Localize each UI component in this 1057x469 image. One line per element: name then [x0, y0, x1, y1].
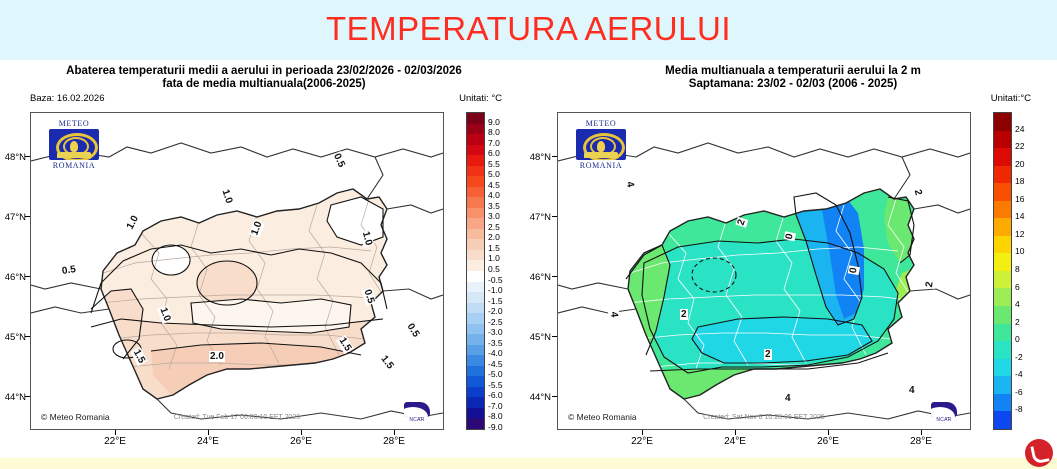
colorbar-segment: [467, 218, 484, 229]
colorbar-segment: [467, 145, 484, 156]
colorbar-tick-label: -4.0: [488, 349, 503, 358]
colorbar-segment: [467, 345, 484, 356]
colorbar-tick-label: 5.0: [488, 170, 500, 179]
colorbar-segment: [994, 253, 1011, 271]
colorbar-segment: [467, 176, 484, 187]
meteo-romania-logo-left: METEO ROMANIA: [43, 119, 105, 170]
right-xtick-mark-26: [828, 430, 829, 435]
colorbar-segment: [467, 313, 484, 324]
ncar-logo-left: NCAR: [399, 402, 435, 423]
colorbar-tick-label: 9.0: [488, 118, 500, 127]
colorbar-tick-label: 22: [1015, 142, 1024, 151]
left-ytick-44: 44°N: [0, 392, 26, 403]
colorbar-tick-label: 12: [1015, 230, 1024, 239]
colorbar-segment: [994, 201, 1011, 219]
colorbar-segment: [467, 303, 484, 314]
colorbar-tick-label: 4.0: [488, 191, 500, 200]
left-units-label: Unitati: °C: [459, 93, 502, 104]
ncar-swoosh-icon-right: [931, 402, 957, 417]
colorbar-tick-label: -4.5: [488, 360, 503, 369]
colorbar-segment: [994, 113, 1011, 131]
colorbar-tick-label: -3.0: [488, 328, 503, 337]
right-xtick-26: 26°E: [808, 436, 848, 447]
right-title-line2: Saptamana: 23/02 - 02/03 (2006 - 2025): [529, 78, 1057, 91]
left-xtick-mark-28: [394, 430, 395, 435]
colorbar-tick-label: 10: [1015, 247, 1024, 256]
colorbar-tick-label: 2.0: [488, 233, 500, 242]
logo-top-text-right: METEO: [570, 119, 632, 128]
colorbar-tick-label: -1.0: [488, 286, 503, 295]
colorbar-tick-label: 6: [1015, 283, 1020, 292]
colorbar-tick-label: 6.0: [488, 149, 500, 158]
colorbar-segment: [467, 197, 484, 208]
colorbar-segment: [467, 387, 484, 398]
colorbar-tick-label: -3.5: [488, 339, 503, 348]
colorbar-segment: [467, 418, 484, 429]
meteo-romania-logo-right: METEO ROMANIA: [570, 119, 632, 170]
ncar-logo-right: NCAR: [926, 402, 962, 423]
colorbar-segment: [994, 236, 1011, 254]
colorbar-tick-label: -5.0: [488, 370, 503, 379]
colorbar-tick-label: 8.0: [488, 128, 500, 137]
colorbar-segment: [467, 166, 484, 177]
colorbar-segment: [994, 288, 1011, 306]
colorbar-tick-label: -5.5: [488, 381, 503, 390]
right-contour-label-10: 4: [784, 393, 792, 404]
colorbar-segment: [994, 394, 1011, 412]
colorbar-tick-label: 2.5: [488, 223, 500, 232]
left-xtick-mark-24: [208, 430, 209, 435]
adobe-pdf-icon[interactable]: [1025, 439, 1053, 467]
colorbar-tick-label: -2.5: [488, 318, 503, 327]
colorbar-tick-label: 1.5: [488, 244, 500, 253]
left-panel: Abaterea temperaturii medii a aerului in…: [0, 60, 528, 469]
left-ytick-45: 45°N: [0, 332, 26, 343]
right-map-frame: 4 2 0 2 0 2 4 2 2 4 4 METEO ROMANIA © Me…: [557, 112, 971, 430]
left-map[interactable]: 0.5 1.0 1.0 1.0 1.0 1.0 0.5 0.5 1.5 1.5 …: [30, 112, 444, 430]
right-contour-label-8: 2: [680, 309, 688, 320]
colorbar-segment: [467, 408, 484, 419]
left-xtick-28: 28°E: [374, 436, 414, 447]
colorbar-segment: [467, 124, 484, 135]
colorbar-segment: [994, 183, 1011, 201]
colorbar-tick-label: -0.5: [488, 276, 503, 285]
ncar-swoosh-icon-left: [404, 402, 430, 417]
right-xtick-mark-28: [921, 430, 922, 435]
left-colorbar: [466, 112, 485, 430]
colorbar-segment: [467, 260, 484, 271]
left-panel-title: Abaterea temperaturii medii a aerului in…: [0, 60, 528, 91]
right-xtick-mark-24: [735, 430, 736, 435]
colorbar-segment: [994, 166, 1011, 184]
right-ytick-46: 46°N: [517, 272, 551, 283]
left-xtick-mark-22: [115, 430, 116, 435]
left-contour-label-11: 2.0: [209, 351, 225, 362]
right-xtick-22: 22°E: [622, 436, 662, 447]
left-xtick-24: 24°E: [188, 436, 228, 447]
right-xtick-24: 24°E: [715, 436, 755, 447]
right-panel-meta: Unitati:°C: [529, 93, 1057, 107]
colorbar-segment: [467, 208, 484, 219]
left-copyright: © Meteo Romania: [41, 412, 110, 422]
colorbar-segment: [994, 271, 1011, 289]
colorbar-segment: [467, 292, 484, 303]
colorbar-tick-label: 5.5: [488, 160, 500, 169]
colorbar-tick-label: 4: [1015, 300, 1020, 309]
colorbar-segment: [467, 187, 484, 198]
right-contour-label-9: 2: [764, 349, 772, 360]
colorbar-segment: [994, 376, 1011, 394]
colorbar-tick-label: 20: [1015, 160, 1024, 169]
colorbar-tick-label: 1.0: [488, 254, 500, 263]
colorbar-tick-label: 18: [1015, 177, 1024, 186]
colorbar-tick-label: 16: [1015, 195, 1024, 204]
colorbar-segment: [467, 334, 484, 345]
colorbar-segment: [467, 282, 484, 293]
colorbar-tick-label: -8.0: [488, 412, 503, 421]
colorbar-segment: [994, 359, 1011, 377]
colorbar-segment: [994, 131, 1011, 149]
logo-bottom-text-right: ROMANIA: [570, 161, 632, 170]
colorbar-tick-label: -8: [1015, 405, 1023, 414]
colorbar-tick-label: 24: [1015, 125, 1024, 134]
ncar-label-right: NCAR: [926, 417, 962, 423]
colorbar-segment: [467, 155, 484, 166]
logo-emblem-right: [576, 129, 626, 160]
right-panel-title: Media multianuala a temperaturii aerului…: [529, 60, 1057, 91]
left-xtick-mark-26: [301, 430, 302, 435]
right-xtick-mark-22: [642, 430, 643, 435]
left-ytick-47: 47°N: [0, 212, 26, 223]
colorbar-tick-label: -2.0: [488, 307, 503, 316]
colorbar-segment: [994, 148, 1011, 166]
right-units-label: Unitati:°C: [991, 93, 1031, 104]
colorbar-segment: [994, 306, 1011, 324]
colorbar-segment: [467, 376, 484, 387]
right-ytick-44: 44°N: [517, 392, 551, 403]
right-ytick-48: 48°N: [517, 152, 551, 163]
left-contour-label-7: 0.5: [60, 264, 77, 277]
colorbar-tick-label: 0.5: [488, 265, 500, 274]
colorbar-segment: [467, 366, 484, 377]
logo-top-text-left: METEO: [43, 119, 105, 128]
left-ytick-46: 46°N: [0, 272, 26, 283]
colorbar-segment: [467, 239, 484, 250]
logo-bottom-text-left: ROMANIA: [43, 161, 105, 170]
colorbar-segment: [994, 218, 1011, 236]
colorbar-segment: [467, 397, 484, 408]
left-created-timestamp: Created: Tue Feb 17 06:00:10 EET 2026: [174, 414, 300, 421]
colorbar-tick-label: 8: [1015, 265, 1020, 274]
colorbar-tick-label: -7.0: [488, 402, 503, 411]
colorbar-segment: [994, 341, 1011, 359]
colorbar-segment: [467, 113, 484, 124]
page-title: TEMPERATURA AERULUI: [0, 10, 1057, 48]
right-colorbar: [993, 112, 1012, 430]
colorbar-tick-label: 3.5: [488, 202, 500, 211]
colorbar-tick-label: -4: [1015, 370, 1023, 379]
left-panel-meta: Baza: 16.02.2026 Unitati: °C: [0, 93, 528, 107]
right-created-timestamp: Created: Sat Nov 8 10:28:06 EET 2025: [703, 414, 825, 421]
colorbar-tick-label: -1.5: [488, 297, 503, 306]
right-xtick-28: 28°E: [901, 436, 941, 447]
colorbar-tick-label: 3.0: [488, 212, 500, 221]
right-contour-label-11: 4: [908, 385, 916, 396]
logo-emblem-left: [49, 129, 99, 160]
colorbar-segment: [467, 229, 484, 240]
right-ytick-47: 47°N: [517, 212, 551, 223]
colorbar-segment: [467, 271, 484, 282]
colorbar-tick-label: 14: [1015, 212, 1024, 221]
colorbar-segment: [994, 411, 1011, 429]
colorbar-tick-label: 0: [1015, 335, 1020, 344]
right-copyright: © Meteo Romania: [568, 412, 637, 422]
colorbar-tick-label: 7.0: [488, 139, 500, 148]
right-panel: Media multianuala a temperaturii aerului…: [529, 60, 1057, 469]
right-title-line1: Media multianuala a temperaturii aerului…: [665, 65, 921, 77]
left-map-frame: 0.5 1.0 1.0 1.0 1.0 1.0 0.5 0.5 1.5 1.5 …: [30, 112, 444, 430]
colorbar-tick-label: 2: [1015, 318, 1020, 327]
ncar-label-left: NCAR: [399, 417, 435, 423]
colorbar-segment: [467, 134, 484, 145]
right-contour-label-6: 2: [924, 280, 936, 289]
right-map[interactable]: 4 2 0 2 0 2 4 2 2 4 4 METEO ROMANIA © Me…: [557, 112, 971, 430]
left-xtick-26: 26°E: [281, 436, 321, 447]
colorbar-segment: [994, 324, 1011, 342]
left-xtick-22: 22°E: [95, 436, 135, 447]
colorbar-tick-label: -2: [1015, 353, 1023, 362]
colorbar-segment: [467, 355, 484, 366]
colorbar-tick-label: -9.0: [488, 423, 503, 432]
left-ytick-48: 48°N: [0, 152, 26, 163]
right-ytick-45: 45°N: [517, 332, 551, 343]
left-title-line1: Abaterea temperaturii medii a aerului in…: [66, 65, 462, 77]
right-contour-label-7: 4: [608, 310, 620, 319]
colorbar-tick-label: -6.0: [488, 391, 503, 400]
left-baza-label: Baza: 16.02.2026: [30, 93, 104, 104]
colorbar-segment: [467, 250, 484, 261]
colorbar-segment: [467, 324, 484, 335]
left-title-line2: fata de media multianuala(2006-2025): [0, 78, 528, 91]
colorbar-tick-label: -6: [1015, 388, 1023, 397]
colorbar-tick-label: 4.5: [488, 181, 500, 190]
